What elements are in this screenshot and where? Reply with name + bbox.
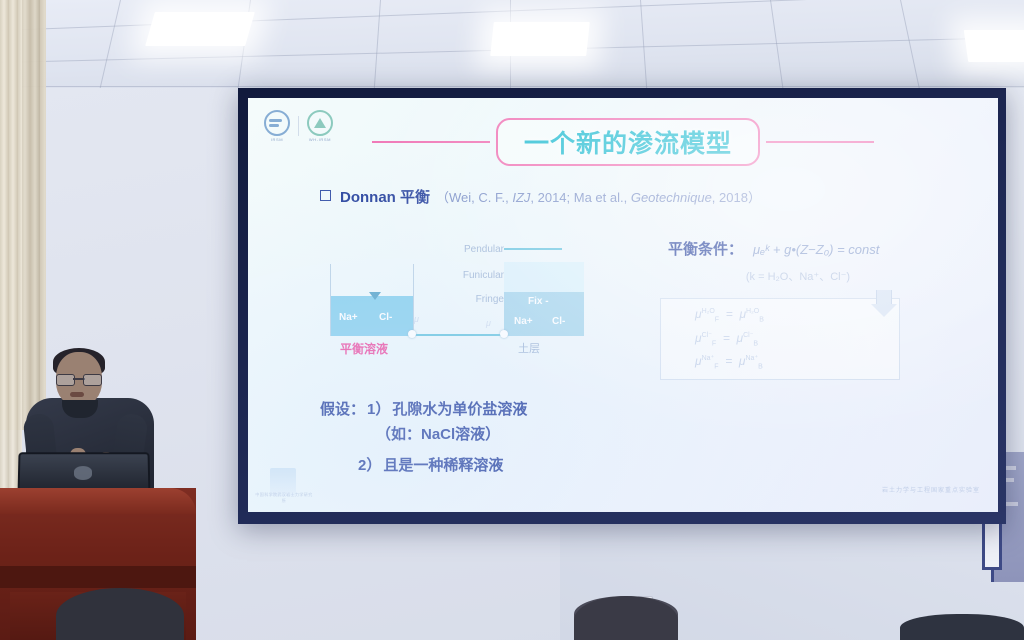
- presentation-photo-scene: IRSM WH-IRSM 一个新的渗流模型 Donnan 平衡: [0, 0, 1024, 640]
- assumption-2-number: 2）: [358, 454, 381, 475]
- node-right: [500, 330, 508, 338]
- fixed-charge-label: Fix -: [528, 296, 549, 307]
- equilibrium-equations: 平衡条件： μₑᵏ + g•(Z−Z₀) = const (k = H₂O、Na…: [668, 238, 968, 380]
- equilibrium-main-equation: μₑᵏ + g•(Z−Z₀) = const: [753, 242, 879, 257]
- slide-footer-caption: 中国科学院武汉岩土力学研究所: [254, 492, 314, 504]
- bullet-heading-row: Donnan 平衡 （Wei, C. F., IZJ, 2014; Ma et …: [320, 186, 761, 207]
- audience-head-center: [574, 596, 678, 640]
- ceiling-light-3: [964, 30, 1024, 62]
- caption-soil-layer: 土层: [518, 340, 540, 356]
- projection-screen-frame: IRSM WH-IRSM 一个新的渗流模型 Donnan 平衡: [238, 88, 1006, 524]
- assumption-2-text: 且是一种稀释溶液: [383, 454, 503, 475]
- donnan-diagram: Na+ Cl- Pendular Funicular Fringe μ μ Fi…: [318, 240, 614, 360]
- chemical-potential-symbol-left: μ: [414, 314, 419, 324]
- soil-ion-na: Na+: [514, 316, 533, 327]
- assumption-row-1: 假设： 1） 孔隙水为单价盐溶液: [320, 398, 527, 419]
- presenter-mouth: [70, 392, 84, 397]
- slide-title-row: 一个新的渗流模型: [248, 120, 998, 164]
- soil-ion-cl: Cl-: [552, 316, 565, 327]
- podium-decorative-band: [0, 566, 196, 588]
- equation-sodium: μNa⁺F = μNa⁺B: [695, 354, 899, 370]
- equilibrium-solution-vessel: Na+ Cl-: [330, 264, 414, 336]
- equilibrium-condition-label: 平衡条件：: [668, 238, 743, 259]
- connecting-base-line: [412, 334, 506, 336]
- audience-head-right: [900, 614, 1024, 640]
- page-title: 一个新的渗流模型: [524, 124, 732, 160]
- chemical-potential-symbol-right: μ: [486, 318, 491, 328]
- vessel-ion-na: Na+: [339, 312, 358, 323]
- hollow-square-bullet-icon: [320, 190, 331, 201]
- water-level-marker-icon: [369, 292, 381, 300]
- window-curtain-inner: [0, 0, 22, 500]
- assumption-1-number: 1）: [367, 398, 390, 419]
- ceiling: [0, 0, 1024, 92]
- title-box: 一个新的渗流模型: [496, 118, 760, 166]
- title-rule-left: [372, 141, 490, 143]
- zone-label-fringe: Fringe: [476, 294, 504, 305]
- assumption-row-2: 2） 且是一种稀释溶液: [358, 454, 527, 475]
- soil-unsaturated-zone: [504, 262, 584, 292]
- slide-canvas: IRSM WH-IRSM 一个新的渗流模型 Donnan 平衡: [248, 98, 998, 512]
- caption-equilibrium-solution: 平衡溶液: [340, 340, 388, 357]
- equation-water: μH₂OF = μH₂OB: [695, 307, 899, 323]
- assumptions-block: 假设： 1） 孔隙水为单价盐溶液 （如：NaCl溶液） 2） 且是一种稀释溶液: [320, 398, 527, 475]
- audience-head-left: [56, 588, 184, 640]
- zone-label-pendular: Pendular: [464, 244, 504, 255]
- equation-chloride: μCl⁻F = μCl⁻B: [695, 331, 899, 347]
- vessel-ion-cl: Cl-: [379, 312, 392, 323]
- bullet-heading-text: Donnan 平衡: [340, 186, 430, 207]
- slide-watermark: 岩土力学与工程国家重点实验室: [882, 485, 980, 494]
- ceiling-light-2: [490, 22, 590, 56]
- equation-header-row: 平衡条件： μₑᵏ + g•(Z−Z₀) = const: [668, 238, 968, 259]
- glasses-icon: [56, 374, 102, 384]
- ceiling-light-1: [145, 12, 255, 46]
- soil-column: Fix - Na+ Cl-: [504, 262, 584, 336]
- assumptions-label: 假设：: [320, 398, 365, 419]
- podium-top-surface: [0, 488, 196, 514]
- laptop-brand-logo-icon: [74, 466, 92, 480]
- assumption-row-1-sub: （如：NaCl溶液）: [376, 423, 527, 444]
- species-note: (k = H₂O、Na⁺、Cl⁻): [668, 268, 968, 284]
- assumption-1-text: 孔隙水为单价盐溶液: [392, 398, 527, 419]
- diagram-top-rule: [504, 248, 562, 250]
- node-left: [408, 330, 416, 338]
- bullet-reference-text: （Wei, C. F., IZJ, 2014; Ma et al., Geote…: [436, 187, 761, 206]
- zone-label-funicular: Funicular: [463, 270, 504, 281]
- assumption-1-subtext: （如：NaCl溶液）: [376, 423, 500, 444]
- title-rule-right: [766, 141, 874, 143]
- chemical-potential-equality-box: μH₂OF = μH₂OB μCl⁻F = μCl⁻B μNa⁺F = μNa⁺…: [660, 298, 900, 380]
